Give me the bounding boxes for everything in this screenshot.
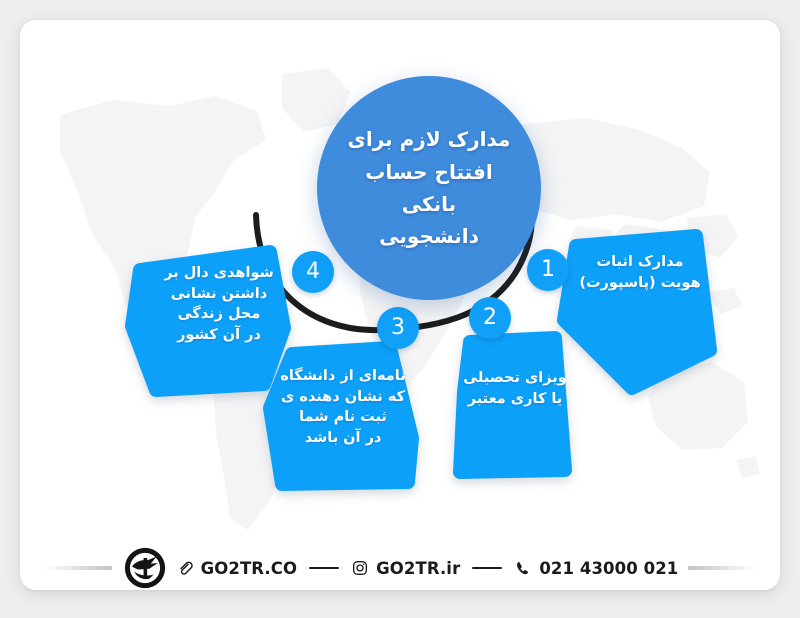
step-badge-3-number: 3	[391, 317, 405, 339]
step-label-4: شواهدی دال بر داشتن نشانی محل زندگی در آ…	[138, 263, 300, 345]
step-badge-1: 1	[527, 249, 569, 291]
phone-icon	[514, 559, 532, 577]
step-badge-3: 3	[377, 307, 419, 349]
contact-phone-label: 021 43000 021	[539, 559, 678, 578]
step-badge-4-number: 4	[306, 261, 320, 283]
step-badge-2-number: 2	[483, 307, 497, 329]
contact-separator-2	[472, 567, 502, 570]
contact-separator-1	[309, 567, 339, 570]
footer-divider-right	[688, 566, 756, 570]
center-circle: مدارک لازم برای افتتاح حساب بانکی دانشجو…	[317, 76, 541, 300]
step-badge-2: 2	[469, 297, 511, 339]
step-badge-1-number: 1	[541, 259, 555, 281]
step-label-2: ویزای تحصیلی یا کاری معتبر	[445, 368, 585, 409]
contact-phone[interactable]: 021 43000 021	[514, 559, 678, 578]
instagram-icon	[351, 559, 369, 577]
step-label-3: نامه‌ای از دانشگاه که نشان دهنده ی ثبت ن…	[255, 366, 431, 448]
contact-instagram[interactable]: GO2TR.ir	[351, 559, 460, 578]
link-icon	[176, 559, 194, 577]
footer-divider-left	[44, 566, 112, 570]
contact-website[interactable]: GO2TR.CO	[176, 559, 298, 578]
page-title: مدارک لازم برای افتتاح حساب بانکی دانشجو…	[317, 123, 541, 253]
step-badge-4: 4	[292, 251, 334, 293]
contact-instagram-label: GO2TR.ir	[376, 559, 460, 578]
go2tr-logo	[122, 545, 168, 591]
step-label-1: مدارک اثبات هویت (پاسپورت)	[560, 252, 720, 293]
contact-list: GO2TR.CO GO2TR.ir	[176, 559, 679, 578]
infographic-stage: مدارک اثبات هویت (پاسپورت) ویزای تحصیلی …	[0, 0, 800, 618]
footer-contact-bar: GO2TR.CO GO2TR.ir	[20, 532, 780, 604]
contact-website-label: GO2TR.CO	[201, 559, 298, 578]
infographic-card: مدارک اثبات هویت (پاسپورت) ویزای تحصیلی …	[20, 20, 780, 590]
